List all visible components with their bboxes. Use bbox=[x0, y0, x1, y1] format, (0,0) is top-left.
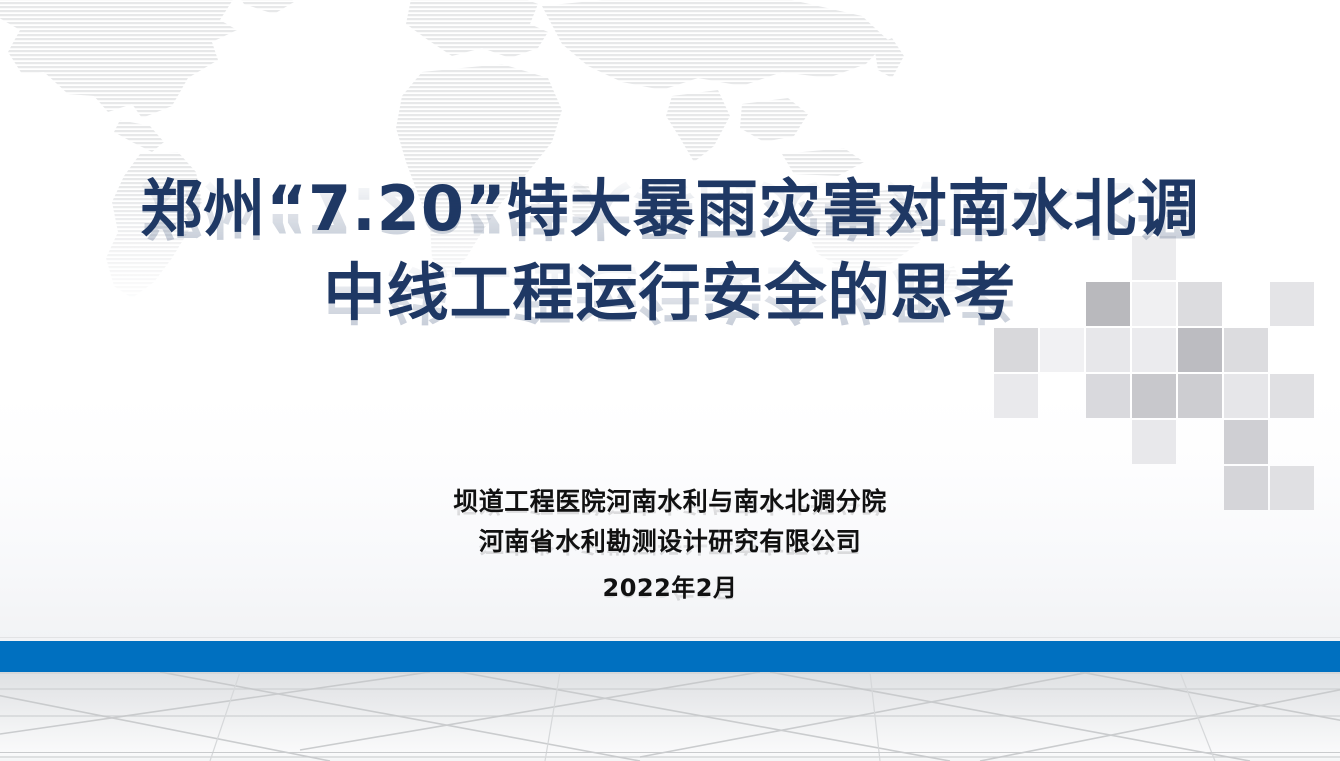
divider-above-accent-bar bbox=[0, 637, 1340, 638]
floor-decoration bbox=[0, 641, 1340, 761]
accent-bar bbox=[0, 641, 1340, 672]
title-slide: 郑州“7.20”特大暴雨灾害对南水北调 郑州“7.20”特大暴雨灾害对南水北调 … bbox=[0, 0, 1340, 761]
perspective-grid bbox=[0, 672, 1340, 761]
bottom-divider bbox=[0, 752, 1340, 753]
